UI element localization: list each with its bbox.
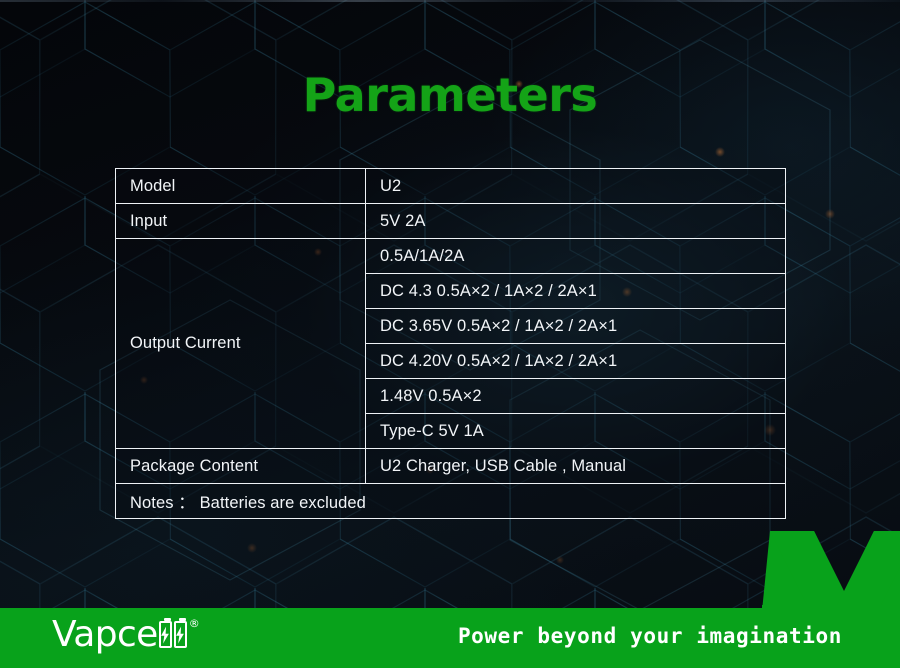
lightning-bolt-icon: [161, 626, 170, 643]
brand-v-mark-icon: [762, 531, 900, 611]
row-value-model: U2: [366, 169, 786, 204]
row-notes: Notes ： Batteries are excluded: [116, 484, 786, 519]
battery-icons: [159, 621, 187, 648]
table-row: Input 5V 2A: [116, 204, 786, 239]
registered-trademark-icon: ®: [189, 618, 200, 629]
battery-icon: [159, 621, 172, 648]
row-value-input: 5V 2A: [366, 204, 786, 239]
table-row: Output Current 0.5A/1A/2A: [116, 239, 786, 274]
row-value-output-current-2: DC 4.3 0.5A×2 / 1A×2 / 2A×1: [366, 274, 786, 309]
row-label-input: Input: [116, 204, 366, 239]
top-edge-hairline: [0, 0, 900, 2]
row-value-output-current-3: DC 3.65V 0.5A×2 / 1A×2 / 2A×1: [366, 309, 786, 344]
lightning-bolt-icon: [176, 626, 185, 643]
logo-wordmark: Vapce: [52, 617, 158, 653]
row-label-output-current: Output Current: [116, 239, 366, 449]
table-row: Package Content U2 Charger, USB Cable , …: [116, 449, 786, 484]
row-value-output-current-6: Type-C 5V 1A: [366, 414, 786, 449]
footer-tagline: Power beyond your imagination: [458, 624, 842, 648]
slide-canvas: Parameters Model U2 Input 5V 2A Output C…: [0, 0, 900, 668]
row-label-model: Model: [116, 169, 366, 204]
battery-icon: [174, 621, 187, 648]
row-label-package-content: Package Content: [116, 449, 366, 484]
page-title: Parameters: [0, 68, 900, 122]
vapcell-logo[interactable]: Vapce ®: [52, 617, 200, 655]
table-row: Notes ： Batteries are excluded: [116, 484, 786, 519]
row-value-package-content: U2 Charger, USB Cable , Manual: [366, 449, 786, 484]
row-value-output-current-1: 0.5A/1A/2A: [366, 239, 786, 274]
table-row: Model U2: [116, 169, 786, 204]
row-value-output-current-5: 1.48V 0.5A×2: [366, 379, 786, 414]
row-value-output-current-4: DC 4.20V 0.5A×2 / 1A×2 / 2A×1: [366, 344, 786, 379]
parameters-table: Model U2 Input 5V 2A Output Current 0.5A…: [115, 168, 786, 519]
